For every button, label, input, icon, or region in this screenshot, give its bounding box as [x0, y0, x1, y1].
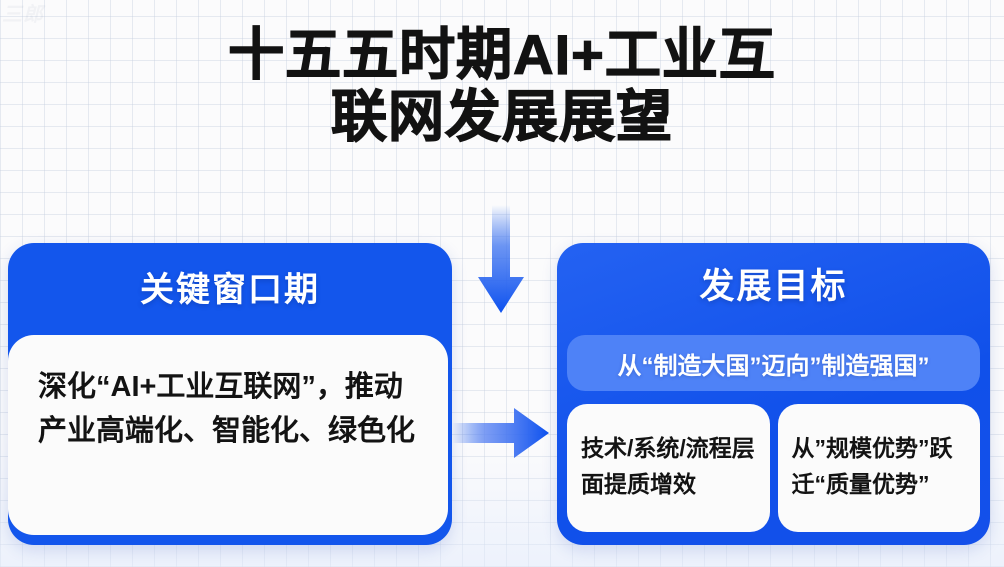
card-right-sub-box-row: 技术/系统/流程层面提质增效 从”规模优势”跃迁“质量优势”: [567, 404, 980, 532]
arrow-down-icon: [477, 205, 525, 315]
card-left-header: 关键窗口期: [8, 243, 452, 311]
page-title-line-2: 联网发展展望: [0, 86, 1004, 148]
sub-box-technology-text: 技术/系统/流程层面提质增效: [581, 430, 760, 502]
slide-canvas: 三郎 十五五时期AI+工业互 联网发展展望: [0, 0, 1004, 567]
card-left-body: 深化“AI+工业互联网”，推动产业高端化、智能化、绿色化: [8, 335, 448, 535]
sub-box-quality[interactable]: 从”规模优势”跃迁“质量优势”: [778, 404, 981, 532]
card-left-body-text: 深化“AI+工业互联网”，推动产业高端化、智能化、绿色化: [38, 365, 428, 453]
page-title: 十五五时期AI+工业互 联网发展展望: [0, 24, 1004, 148]
arrow-right-icon: [452, 404, 550, 462]
card-development-goal[interactable]: 发展目标 从“制造大国”迈向”制造强国” 技术/系统/流程层面提质增效 从”规模…: [557, 243, 990, 545]
card-right-pill-text: 从“制造大国”迈向”制造强国”: [618, 346, 930, 381]
sub-box-technology[interactable]: 技术/系统/流程层面提质增效: [567, 404, 770, 532]
card-key-window[interactable]: 关键窗口期 深化“AI+工业互联网”，推动产业高端化、智能化、绿色化: [8, 243, 452, 545]
watermark-text: 三郎: [2, 0, 44, 27]
sub-box-quality-text: 从”规模优势”跃迁“质量优势”: [792, 430, 971, 502]
card-right-header: 发展目标: [557, 243, 990, 309]
page-title-line-1: 十五五时期AI+工业互: [0, 24, 1004, 86]
card-right-pill: 从“制造大国”迈向”制造强国”: [567, 335, 980, 391]
